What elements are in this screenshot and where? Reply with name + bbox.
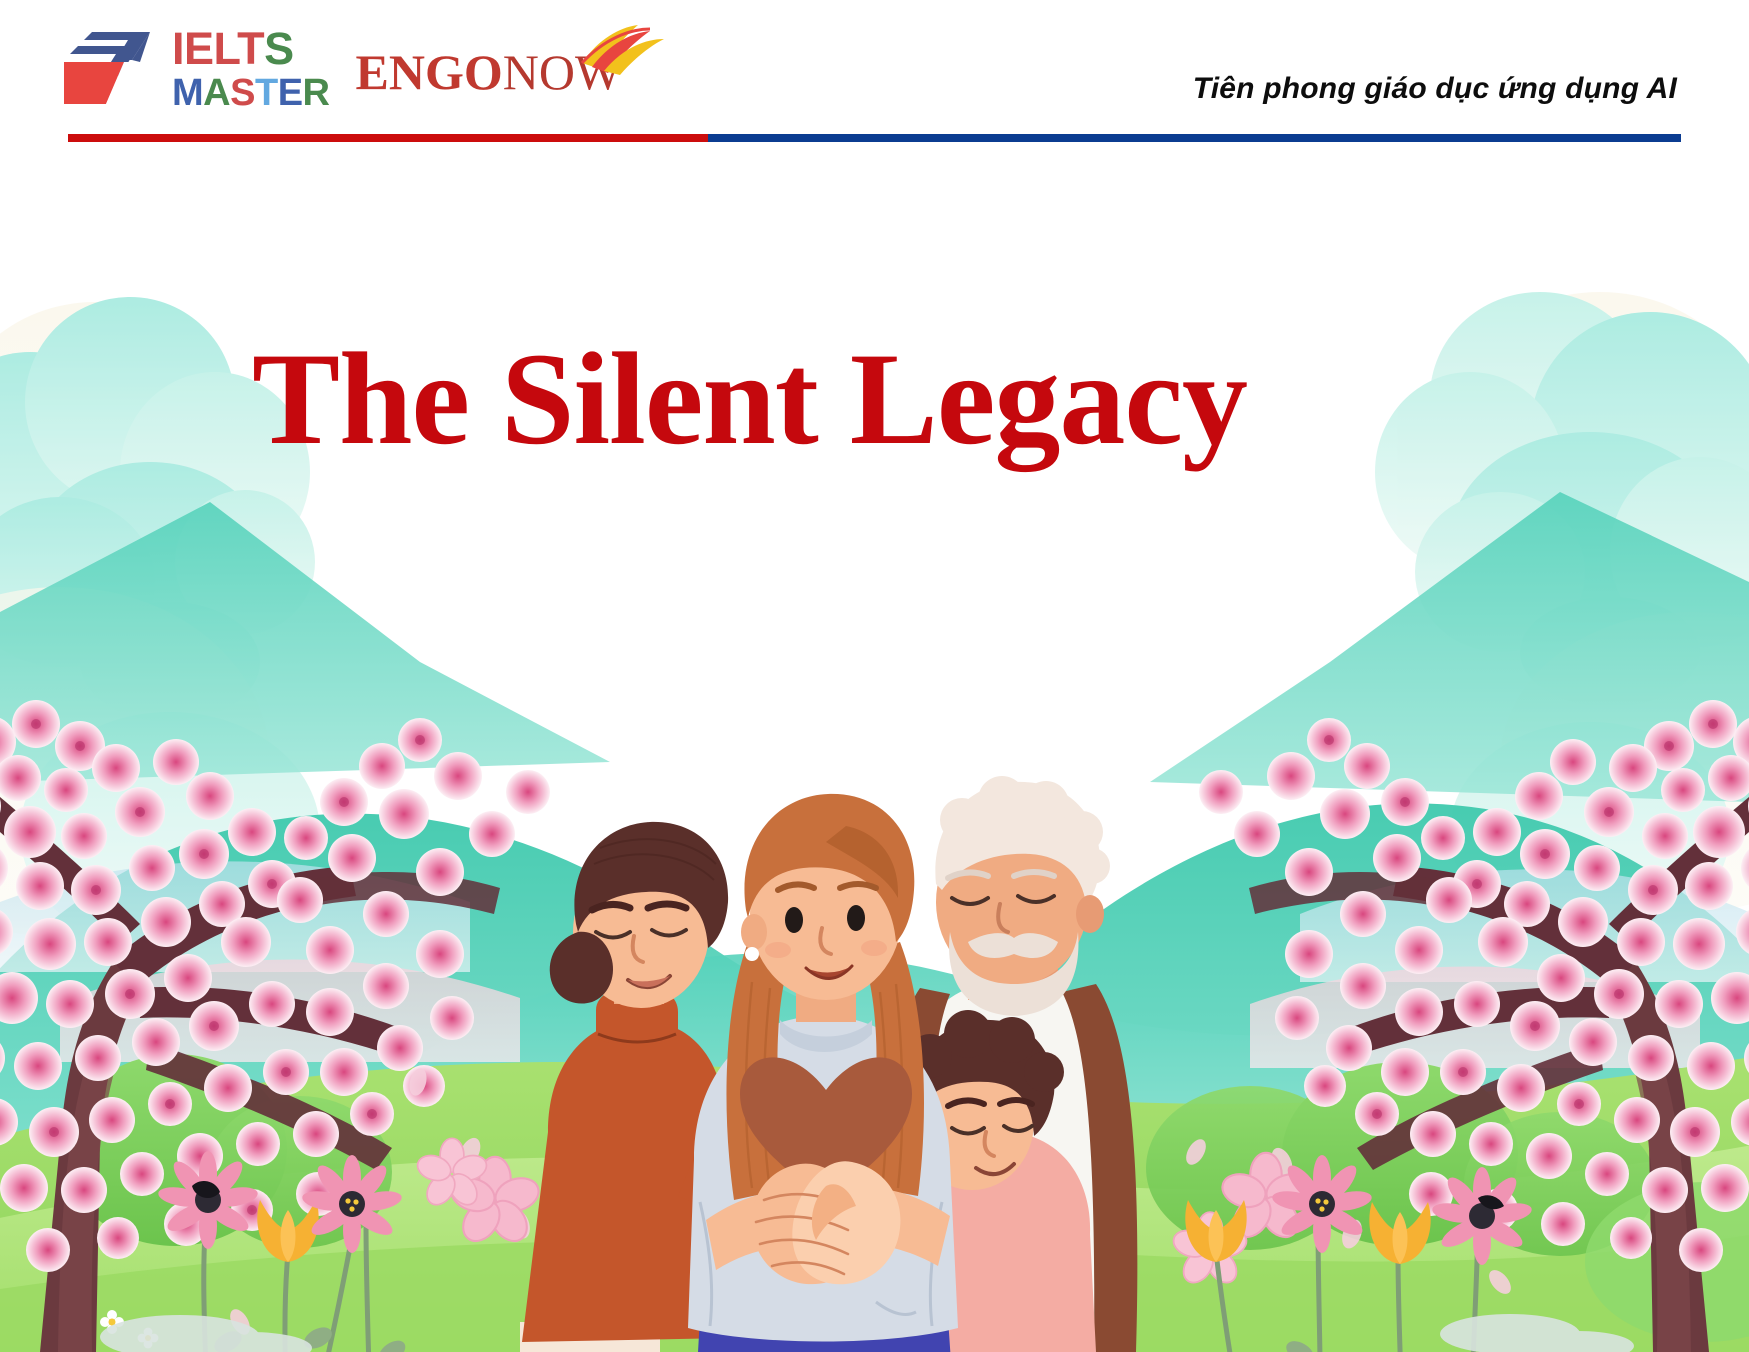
engonow-wordmark: ENGONOW <box>356 41 623 97</box>
logo-group[interactable]: IELTS MASTER ENGONOW <box>62 26 622 112</box>
header-bar: IELTS MASTER ENGONOW Tiên phong giáo dục… <box>0 0 1749 142</box>
divider-segment-blue <box>708 134 1681 142</box>
scene-svg <box>0 142 1749 1352</box>
ielts-master-wordmark: IELTS MASTER <box>172 26 330 112</box>
header-tagline: Tiên phong giáo dục ứng dụng AI <box>1193 72 1677 106</box>
slide-canvas: The Silent Legacy IELTS MASTER ENGO <box>0 0 1749 1352</box>
divider-segment-red <box>68 134 708 142</box>
header-divider <box>68 134 1681 142</box>
illustration-scene <box>0 142 1749 1352</box>
master-text: MASTER <box>172 74 330 112</box>
family-group <box>520 776 1137 1352</box>
open-book-icon <box>578 23 668 75</box>
stacked-books-icon <box>62 30 154 108</box>
ielts-text: IELTS <box>172 26 330 71</box>
